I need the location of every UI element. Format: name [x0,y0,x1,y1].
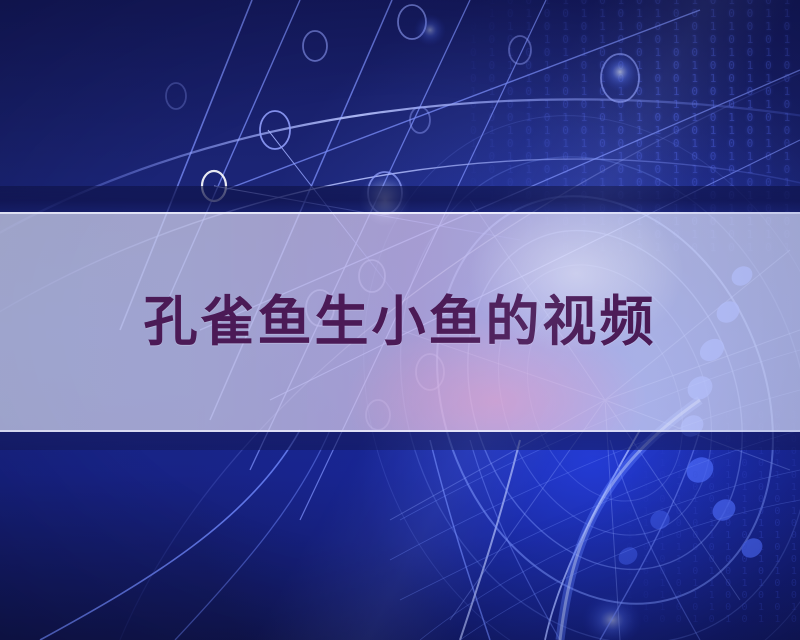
title-container: 孔雀鱼生小鱼的视频 [0,212,800,432]
banner-image: 0 1 0 0 1 1 0 0 1 0 0 1 1 0 1 0 0 1 0 1 … [0,0,800,640]
band-shadow-strip-bottom [0,432,800,450]
page-title: 孔雀鱼生小鱼的视频 [144,295,657,349]
band-shadow-strip-top [0,186,800,212]
